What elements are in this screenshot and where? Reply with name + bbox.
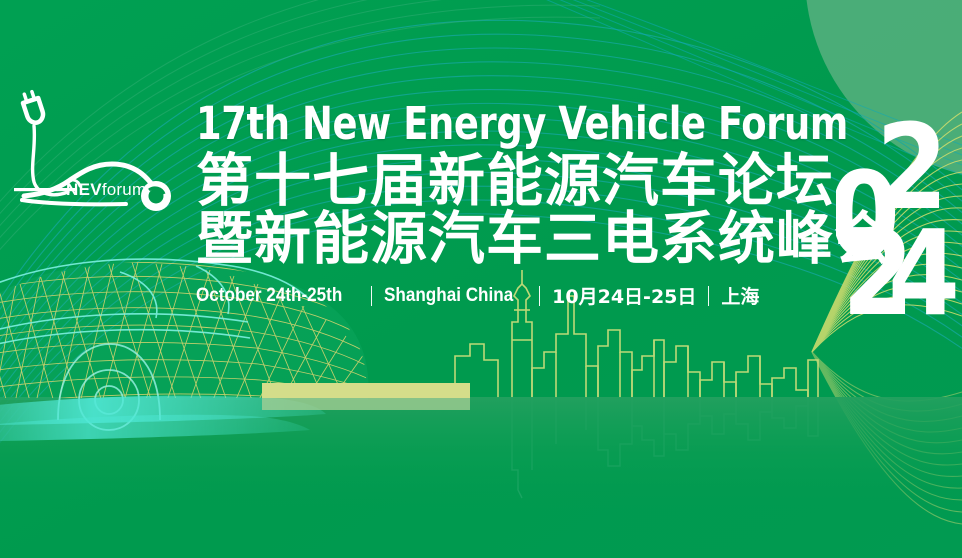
subtitle-date-en: October 24th-25th [196,285,342,307]
subtitle-separator-3 [708,286,709,306]
subtitle-separator-2 [539,286,540,306]
headline-block: 17th New Energy Vehicle Forum 第十七届新能源汽车论… [196,100,846,309]
subtitle-date-cn: 10月24日-25日 [552,282,696,309]
year-digit-4-bot: 4 [888,204,956,316]
logo-forum-text: forum [102,180,146,199]
event-poster: NEVforum 17th New Energy Vehicle Forum 第… [0,0,962,558]
subtitle-location-cn: 上海 [721,282,759,309]
logo-nev-text: NEV [66,180,102,199]
logo-wordmark: NEVforum [66,180,146,200]
title-chinese-line1: 第十七届新能源汽车论坛 [196,150,846,212]
subtitle-location-en: Shanghai China [384,285,513,307]
title-english: 17th New Energy Vehicle Forum [196,100,729,148]
subtitle-row: October 24th-25th Shanghai China 10月24日-… [196,282,846,309]
subtitle-separator-1 [371,286,372,306]
title-chinese-line2: 暨新能源汽车三电系统峰会 [196,208,846,270]
